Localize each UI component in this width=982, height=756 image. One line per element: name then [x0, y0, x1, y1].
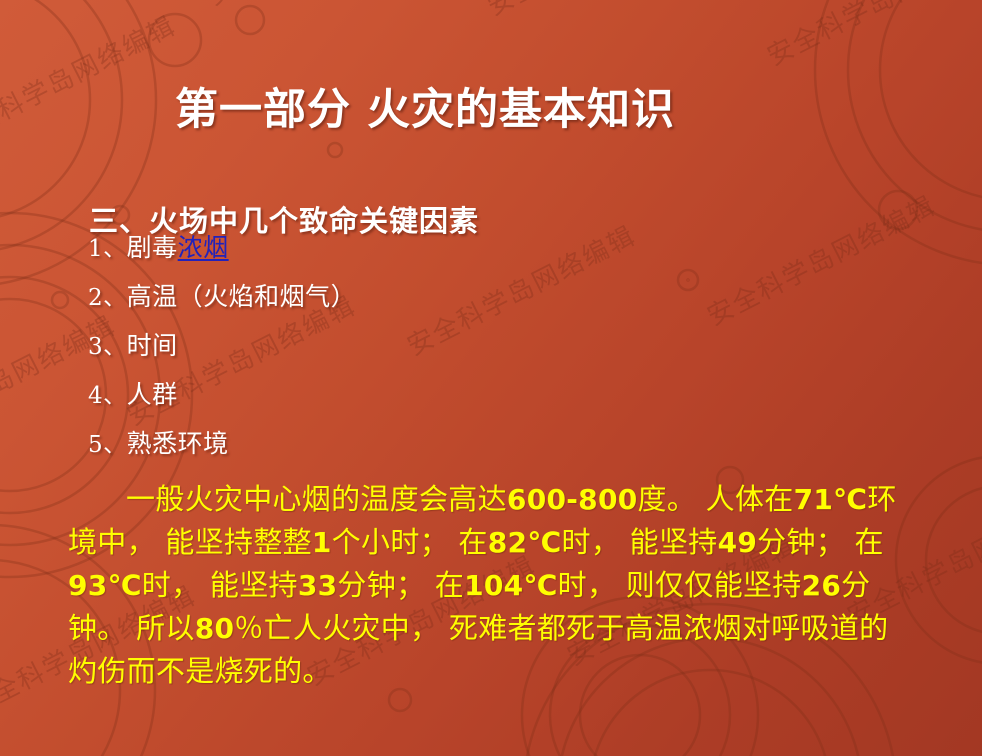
para-number: 49 [718, 526, 758, 559]
para-seg: 时， 则仅仅能坚持 [558, 568, 802, 602]
para-number: 93℃ [68, 569, 142, 602]
para-seg: 分钟； 在 [337, 568, 464, 602]
list-item: 3、时间 [88, 322, 356, 371]
list-item: 5、熟悉环境 [88, 420, 356, 469]
body-paragraph: 一般火灾中心烟的温度会高达600-800度。 人体在71℃环境中， 能坚持整整1… [68, 478, 908, 692]
list-item-number: 5、 [88, 432, 127, 458]
list-item-number: 1、 [88, 236, 127, 262]
bullet-list: 1、剧毒浓烟 2、高温（火焰和烟气） 3、时间 4、人群 5、熟悉环境 [88, 224, 356, 469]
para-seg: 分钟； 在 [757, 525, 884, 559]
para-number: 71℃ [794, 483, 868, 516]
para-number: 26 [802, 569, 842, 602]
list-item: 2、高温（火焰和烟气） [88, 273, 356, 322]
para-seg: 时， 能坚持 [562, 525, 718, 559]
list-item-number: 2、 [88, 285, 127, 311]
slide-content: 第一部分 火灾的基本知识 三、火场中几个致命关键因素 1、剧毒浓烟 2、高温（火… [0, 0, 982, 756]
page-title: 第一部分 火灾的基本知识 [175, 86, 675, 135]
para-number: 600-800 [507, 483, 638, 516]
para-seg: 个小时； 在 [332, 525, 488, 559]
list-item-label: 熟悉环境 [127, 429, 229, 458]
para-number: 104℃ [464, 569, 558, 602]
list-item-label: 时间 [127, 331, 178, 360]
para-number: 1 [312, 526, 332, 559]
para-seg: 一般火灾中心烟的温度会高达 [126, 482, 507, 516]
list-item-label: 高温（火焰和烟气） [127, 282, 357, 311]
list-item-number: 4、 [88, 383, 127, 409]
list-item: 1、剧毒浓烟 [88, 224, 356, 273]
para-number: 80 [195, 612, 235, 645]
list-item-label: 剧毒 [127, 233, 178, 262]
para-number: 82℃ [488, 526, 562, 559]
para-number: 33 [298, 569, 338, 602]
list-item-number: 3、 [88, 334, 127, 360]
list-item: 4、人群 [88, 371, 356, 420]
hyperlink-dense-smoke[interactable]: 浓烟 [178, 233, 229, 262]
para-seg: 度。 人体在 [638, 482, 794, 516]
para-seg: 时， 能坚持 [142, 568, 298, 602]
presentation-slide: 安全科学岛网络编辑 安全科学岛网络编辑 安全科学岛网络编辑 安全科学岛网络编辑 … [0, 0, 982, 756]
list-item-label: 人群 [127, 380, 178, 409]
